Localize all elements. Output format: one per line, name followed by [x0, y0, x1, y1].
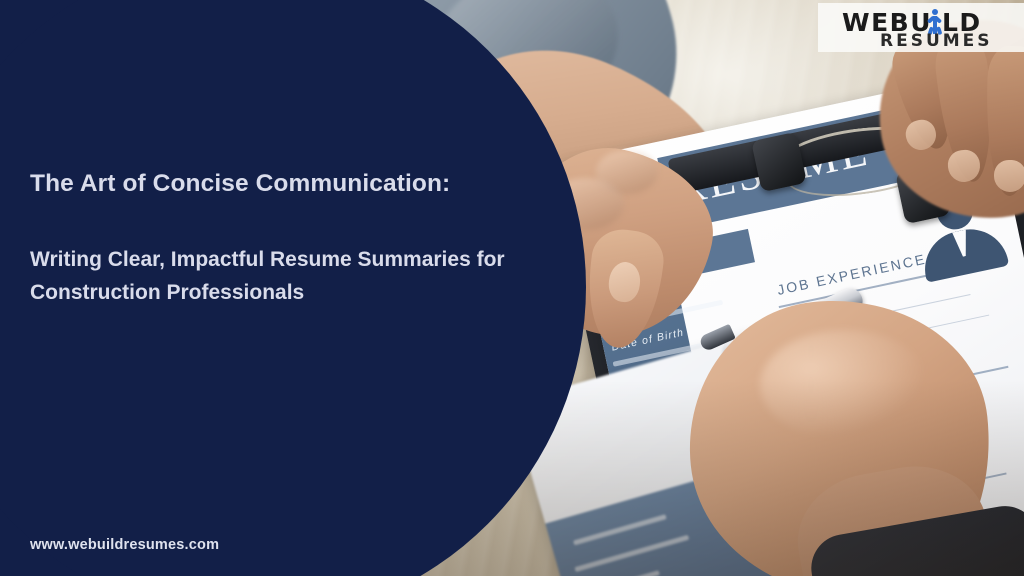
- page-subtitle: Writing Clear, Impactful Resume Summarie…: [30, 243, 560, 309]
- hand-knuckle: [596, 150, 658, 194]
- page-subtitle-line-2: Construction Professionals: [30, 276, 560, 309]
- blog-banner: RESUME PROFILE Name Date of Birth Addres…: [0, 0, 1024, 576]
- page-title: The Art of Concise Communication:: [30, 168, 550, 200]
- page-subtitle-line-1: Writing Clear, Impactful Resume Summarie…: [30, 243, 560, 276]
- fingernail: [993, 159, 1024, 192]
- logo-subword: RESUMES: [880, 31, 993, 51]
- website-url[interactable]: www.webuildresumes.com: [30, 537, 219, 553]
- figure-head: [932, 9, 938, 15]
- logo[interactable]: WEBU LD RESUMES: [818, 3, 1024, 52]
